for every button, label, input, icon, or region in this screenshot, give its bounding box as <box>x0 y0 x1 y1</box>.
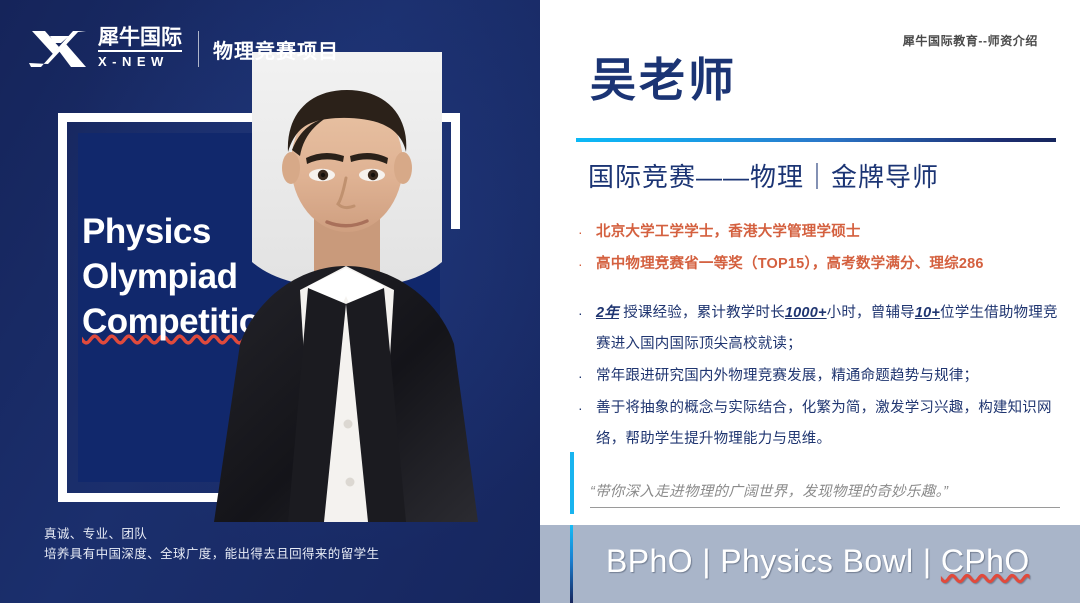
footer-accent-line <box>570 525 573 603</box>
plain-span: 小时，曾辅导 <box>827 305 915 321</box>
bullet-dot-icon: · <box>570 393 596 424</box>
slide-root: 犀牛国际 X-NEW 物理竞赛项目 Physics Olympiad Compe… <box>0 0 1080 603</box>
right-content-panel: 犀牛国际教育--师资介绍 吴老师 国际竞赛——物理｜金牌导师 ·北京大学工学学士… <box>540 0 1080 603</box>
title-divider-rule <box>576 138 1056 142</box>
frame-left-segment <box>58 113 67 502</box>
plain-span: 授课经验，累计教学时长 <box>619 305 785 321</box>
slogan-line-2: 培养具有中国深度、全球广度，能出得去且回得来的留学生 <box>44 544 379 564</box>
detail-bullet-group: ·2年 授课经验，累计教学时长1000+小时，曾辅导10+位学生借助物理竞赛进入… <box>570 298 1070 455</box>
teacher-name-title: 吴老师 <box>590 57 737 103</box>
highlight-bullet-row: ·北京大学工学学士，香港大学管理学硕士 <box>570 218 1070 246</box>
highlight-bullet-row: ·高中物理竞赛省一等奖（TOP15），高考数学满分、理综286 <box>570 250 1070 278</box>
teacher-portrait <box>196 52 496 522</box>
exam-footer-bar: BPhO | Physics Bowl | CPhO <box>540 525 1080 603</box>
detail-bullet-row: ·2年 授课经验，累计教学时长1000+小时，曾辅导10+位学生借助物理竞赛进入… <box>570 298 1070 360</box>
teacher-subtitle: 国际竞赛——物理｜金牌导师 <box>588 157 939 194</box>
highlight-bullet-group: ·北京大学工学学士，香港大学管理学硕士·高中物理竞赛省一等奖（TOP15），高考… <box>570 218 1070 278</box>
brand-wordmark: 犀牛国际 X-NEW <box>98 27 182 70</box>
brand-logo-block: 犀牛国际 X-NEW 物理竞赛项目 <box>28 24 339 74</box>
bullet-dot-icon: · <box>570 218 596 246</box>
brand-name-cn: 犀牛国际 <box>98 27 182 52</box>
x-new-rhino-logo-icon <box>28 24 90 74</box>
bullet-text: 高中物理竞赛省一等奖（TOP15），高考数学满分、理综286 <box>596 250 1070 278</box>
emphasis-span: 10+ <box>915 305 940 321</box>
brand-name-en: X-NEW <box>98 54 169 70</box>
plain-span: 善于将抽象的概念与实际结合，化繁为简，激发学习兴趣，构建知识网络，帮助学生提升物… <box>596 400 1052 447</box>
program-tag: 物理竞赛项目 <box>213 35 339 64</box>
detail-bullet-row: ·常年跟进研究国内外物理竞赛发展，精通命题趋势与规律； <box>570 361 1070 392</box>
bullet-dot-icon: · <box>570 250 596 278</box>
plain-span: 常年跟进研究国内外物理竞赛发展，精通命题趋势与规律； <box>596 368 978 384</box>
credentials-list: ·北京大学工学学士，香港大学管理学硕士·高中物理竞赛省一等奖（TOP15），高考… <box>570 218 1070 455</box>
bullet-text: 北京大学工学学士，香港大学管理学硕士 <box>596 218 1070 246</box>
quote-accent-bar <box>570 452 574 514</box>
bullet-text: 善于将抽象的概念与实际结合，化繁为简，激发学习兴趣，构建知识网络，帮助学生提升物… <box>596 393 1070 455</box>
slogan-line-1: 真诚、专业、团队 <box>44 524 379 544</box>
emphasis-span: 1000+ <box>785 305 827 321</box>
exam-list-text: BPhO | Physics Bowl | CPhO <box>606 543 1030 580</box>
teacher-quote-block: “带你深入走进物理的广阔世界，发现物理的奇妙乐趣。” <box>570 452 1070 514</box>
detail-bullet-row: ·善于将抽象的概念与实际结合，化繁为简，激发学习兴趣，构建知识网络，帮助学生提升… <box>570 393 1070 455</box>
left-navy-panel: 犀牛国际 X-NEW 物理竞赛项目 Physics Olympiad Compe… <box>0 0 540 603</box>
bullet-text: 常年跟进研究国内外物理竞赛发展，精通命题趋势与规律； <box>596 361 1070 392</box>
company-slogan: 真诚、专业、团队 培养具有中国深度、全球广度，能出得去且回得来的留学生 <box>44 524 379 565</box>
exam-list-head: BPhO | Physics Bowl | <box>606 543 941 579</box>
page-kicker: 犀牛国际教育--师资介绍 <box>903 32 1038 49</box>
emphasis-span: 2年 <box>596 305 619 321</box>
exam-list-misspelled-token: CPhO <box>941 543 1030 579</box>
logo-divider <box>198 31 199 67</box>
bullet-dot-icon: · <box>570 361 596 392</box>
teacher-quote-text: “带你深入走进物理的广阔世界，发现物理的奇妙乐趣。” <box>590 480 1060 508</box>
bullet-dot-icon: · <box>570 298 596 329</box>
bullet-text: 2年 授课经验，累计教学时长1000+小时，曾辅导10+位学生借助物理竞赛进入国… <box>596 298 1070 360</box>
